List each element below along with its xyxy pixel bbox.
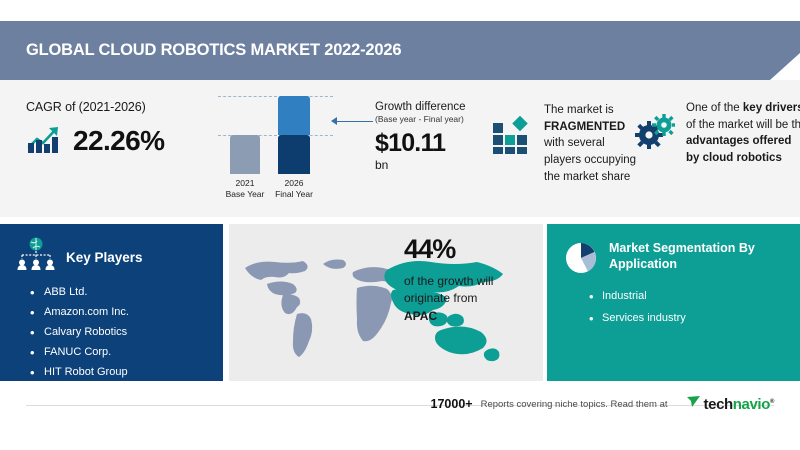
callout-arrow-icon <box>331 117 337 125</box>
growth-bar-chart: 2021 Base Year 2026 Final Year <box>218 96 333 201</box>
frag-line-3: with several <box>544 137 605 149</box>
apac-description: of the growth will originate from APAC <box>404 273 544 325</box>
bar-2026-caption: 2026 Final Year <box>268 178 320 201</box>
list-item: HIT Robot Group <box>30 367 223 378</box>
apac-percentage: 44% <box>404 236 544 263</box>
segmentation-header: Market Segmentation By Application <box>547 224 800 280</box>
page-title: GLOBAL CLOUD ROBOTICS MARKET 2022-2026 <box>26 41 401 60</box>
growth-difference-value: $10.11 <box>375 130 505 156</box>
growth-difference-subtitle: (Base year - Final year) <box>375 114 505 125</box>
reports-count: 17000+ <box>431 397 473 411</box>
gridline-upper <box>218 96 333 97</box>
apac-line-3: APAC <box>404 309 437 323</box>
key-drivers-text: One of the key drivers of the market wil… <box>686 100 800 167</box>
drivers-line-3: advantages offered <box>686 135 791 147</box>
key-players-header: Key Players <box>0 224 223 278</box>
bar-2026-base-portion <box>278 135 310 174</box>
drivers-line-2: of the market will be the <box>686 119 800 131</box>
list-item: Services industry <box>589 313 800 324</box>
infographic-root: GLOBAL CLOUD ROBOTICS MARKET 2022-2026 C… <box>0 0 800 450</box>
bar-2021-caption: 2021 Base Year <box>219 178 271 201</box>
growth-difference-title: Growth difference <box>375 100 505 114</box>
apac-line-1: of the growth will <box>404 274 493 288</box>
key-drivers-block: One of the key drivers of the market wil… <box>635 100 800 167</box>
list-item: Industrial <box>589 291 800 302</box>
frag-line-1: The market is <box>544 104 614 116</box>
list-item: Calvary Robotics <box>30 327 223 338</box>
technavio-arrow-icon <box>686 394 701 414</box>
org-chart-globe-icon <box>16 237 56 278</box>
logo-text-tech: tech <box>704 396 733 413</box>
drivers-line-1-bold: key drivers <box>743 102 800 114</box>
cagr-value: 22.26% <box>73 127 164 155</box>
bar-2021 <box>230 135 260 174</box>
growth-difference-unit: bn <box>375 158 505 172</box>
key-players-panel: Key Players ABB Ltd. Amazon.com Inc. Cal… <box>0 224 223 381</box>
frag-line-2: FRAGMENTED <box>544 121 625 133</box>
apac-line-2: originate from <box>404 291 477 305</box>
footer-tagline: Reports covering niche topics. Read them… <box>481 399 668 410</box>
list-item: FANUC Corp. <box>30 347 223 358</box>
drivers-line-1: One of the <box>686 102 743 114</box>
logo-text-navio: navio <box>733 396 770 413</box>
middle-row: Key Players ABB Ltd. Amazon.com Inc. Cal… <box>0 224 800 381</box>
bar-chart-growth-icon <box>26 122 64 159</box>
list-item: ABB Ltd. <box>30 287 223 298</box>
chart-plot-area <box>218 96 333 174</box>
callout-connector <box>333 121 373 122</box>
frag-line-4: players occupying <box>544 154 636 166</box>
key-players-title: Key Players <box>66 250 143 265</box>
market-segmentation-panel: Market Segmentation By Application Indus… <box>547 224 800 381</box>
drivers-line-4: by cloud robotics <box>686 152 782 164</box>
key-players-list: ABB Ltd. Amazon.com Inc. Calvary Robotic… <box>30 287 223 378</box>
bar-2026-growth-portion <box>278 96 310 135</box>
gears-icon <box>635 113 675 154</box>
footer: 17000+ Reports covering niche topics. Re… <box>0 381 800 450</box>
segmentation-title: Market Segmentation By Application <box>609 240 769 273</box>
pie-chart-icon <box>564 241 598 280</box>
segmentation-list: Industrial Services industry <box>589 291 800 324</box>
logo-registered-mark: ® <box>770 399 774 405</box>
frag-line-5: the market share <box>544 171 630 183</box>
growth-difference-block: Growth difference (Base year - Final yea… <box>375 100 505 172</box>
fragmented-squares-icon <box>492 116 532 159</box>
cagr-label: CAGR of (2021-2026) <box>26 100 216 114</box>
cagr-block: CAGR of (2021-2026) 22.26% <box>26 100 216 159</box>
technavio-logo[interactable]: technavio® <box>686 394 774 414</box>
list-item: Amazon.com Inc. <box>30 307 223 318</box>
